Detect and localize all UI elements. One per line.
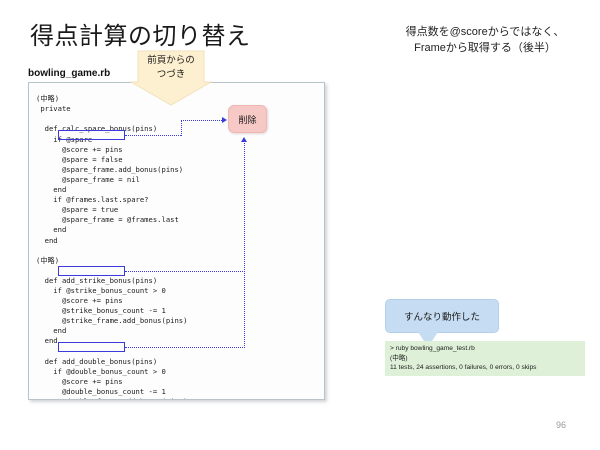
connector-line-spare-v	[181, 120, 182, 136]
continuation-callout-label: 前頁からの つづき	[130, 54, 212, 82]
continuation-arrow-callout: 前頁からの つづき	[130, 50, 212, 106]
terminal-line-3: 11 tests, 24 assertions, 0 failures, 0 e…	[390, 364, 536, 371]
connector-line-trunk-v	[244, 140, 245, 348]
page-number: 96	[556, 420, 566, 430]
terminal-output-text: > ruby bowling_game_test.rb (中略) 11 test…	[390, 344, 580, 373]
result-comment-label: すんなり動作した	[404, 309, 480, 323]
code-highlight-strike-score	[58, 266, 125, 276]
continuation-line-1: 前頁からの	[130, 54, 212, 68]
slide-canvas: 得点計算の切り替え 得点数を@scoreからではなく、 Frameから取得する（…	[0, 0, 600, 450]
connector-line-strike-h	[125, 271, 245, 272]
code-highlight-double-score	[58, 342, 125, 352]
delete-annotation-label: 削除	[238, 113, 256, 126]
terminal-line-1: > ruby bowling_game_test.rb	[390, 345, 475, 352]
continuation-line-2: つづき	[130, 68, 212, 82]
code-highlight-spare-score	[58, 130, 125, 140]
terminal-line-2: (中略)	[390, 355, 408, 362]
slide-subtitle: 得点数を@scoreからではなく、 Frameから取得する（後半）	[372, 24, 598, 56]
arrowhead-up-icon	[241, 137, 247, 142]
code-listing: (中略) private def calc_spare_bonus(pins) …	[36, 94, 187, 400]
result-comment-callout: すんなり動作した	[385, 299, 499, 333]
code-file-label: bowling_game.rb	[28, 68, 110, 79]
subtitle-line-2: Frameから取得する（後半）	[372, 40, 598, 56]
terminal-output-box: > ruby bowling_game_test.rb (中略) 11 test…	[385, 341, 585, 376]
connector-line-spare-h	[125, 135, 181, 136]
connector-line-spare-to-delete	[181, 120, 224, 121]
delete-annotation-box: 削除	[228, 105, 267, 133]
connector-line-double-h	[125, 347, 245, 348]
subtitle-line-1: 得点数を@scoreからではなく、	[372, 24, 598, 40]
page-title: 得点計算の切り替え	[30, 16, 251, 51]
arrowhead-right-icon	[222, 117, 227, 123]
